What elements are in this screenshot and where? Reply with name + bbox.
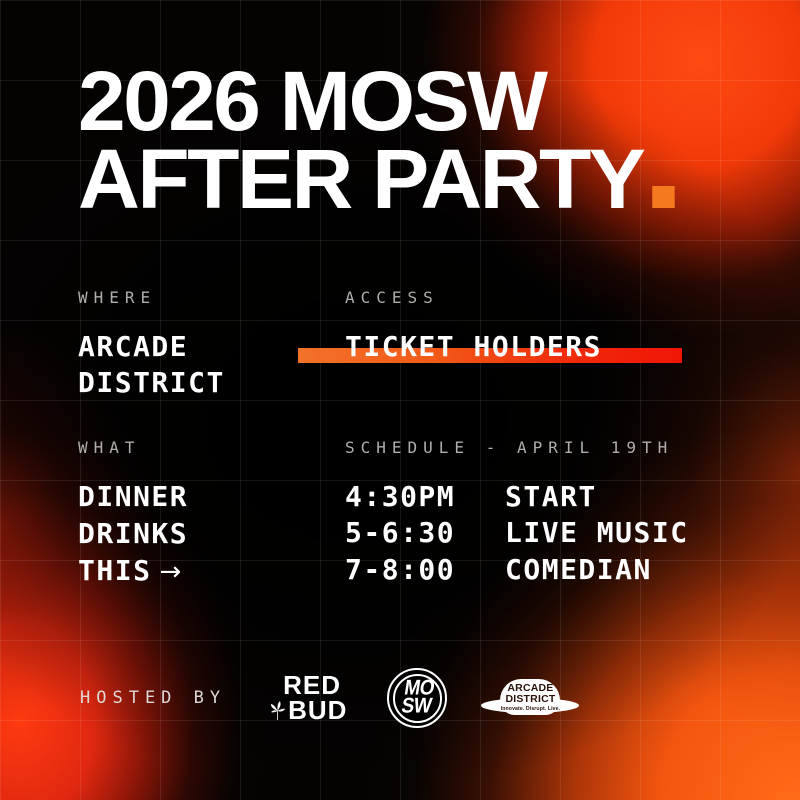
hosted-by-label: HOSTED BY bbox=[80, 688, 226, 708]
poster-canvas: 2026 MOSW AFTER PARTY WHERE ARCADE DISTR… bbox=[0, 0, 800, 800]
access-value-highlight: TICKET HOLDERS bbox=[323, 329, 602, 365]
red-bud-line-2: BUD bbox=[288, 698, 347, 723]
what-item-text: THIS bbox=[78, 554, 151, 587]
arrow-right-icon: → bbox=[159, 557, 182, 587]
mosw-wordmark: MO SW bbox=[400, 681, 435, 716]
schedule-time: 7-8:00 bbox=[345, 552, 505, 588]
schedule-label: SCHEDULE - APRIL 19TH bbox=[345, 438, 689, 457]
headline-line-2-wrap: AFTER PARTY bbox=[78, 140, 772, 218]
footer-hosts: HOSTED BY RED BUD bbox=[80, 668, 579, 728]
where-label: WHERE bbox=[78, 288, 225, 307]
poster-content: 2026 MOSW AFTER PARTY WHERE ARCADE DISTR… bbox=[0, 0, 800, 800]
what-list: DINNER DRINKS THIS→ bbox=[78, 479, 196, 589]
headline-line-1: 2026 MOSW bbox=[78, 62, 772, 140]
where-value-line-2: DISTRICT bbox=[78, 365, 225, 401]
headline-line-2: AFTER PARTY bbox=[78, 132, 643, 226]
where-value-line-1: ARCADE bbox=[78, 329, 225, 365]
where-value: ARCADE DISTRICT bbox=[78, 329, 225, 402]
headline-period-square bbox=[653, 186, 675, 208]
arcade-district-wordmark: ARCADE DISTRICT Innovate. Disrupt. Live. bbox=[501, 683, 560, 712]
where-block: WHERE ARCADE DISTRICT bbox=[78, 288, 225, 402]
logo-arcade-district: ARCADE DISTRICT Innovate. Disrupt. Live. bbox=[481, 675, 579, 721]
list-item: DRINKS bbox=[78, 516, 196, 553]
logo-red-bud: RED BUD bbox=[270, 673, 347, 722]
access-value: TICKET HOLDERS bbox=[345, 330, 602, 363]
leaf-icon bbox=[270, 701, 285, 720]
arcade-district-tagline: Innovate. Disrupt. Live. bbox=[501, 706, 560, 712]
table-row: 5-6:30 LIVE MUSIC bbox=[345, 515, 689, 551]
schedule-time: 5-6:30 bbox=[345, 515, 505, 551]
page-title: 2026 MOSW AFTER PARTY bbox=[78, 62, 758, 218]
access-value-wrap: TICKET HOLDERS bbox=[345, 329, 602, 365]
schedule-activity: LIVE MUSIC bbox=[505, 515, 689, 551]
what-item-text: DRINKS bbox=[78, 517, 188, 550]
what-item-text: DINNER bbox=[78, 480, 188, 513]
arcade-district-line-2: DISTRICT bbox=[501, 694, 560, 705]
schedule-block: SCHEDULE - APRIL 19TH 4:30PM START 5-6:3… bbox=[345, 438, 689, 588]
table-row: 4:30PM START bbox=[345, 479, 689, 515]
list-item: THIS→ bbox=[78, 553, 196, 590]
access-block: ACCESS TICKET HOLDERS bbox=[345, 288, 602, 365]
access-label: ACCESS bbox=[345, 288, 602, 307]
logo-mosw: MO SW bbox=[387, 668, 447, 728]
what-label: WHAT bbox=[78, 438, 196, 457]
schedule-time: 4:30PM bbox=[345, 479, 505, 515]
schedule-list: 4:30PM START 5-6:30 LIVE MUSIC 7-8:00 CO… bbox=[345, 479, 689, 588]
list-item: DINNER bbox=[78, 479, 196, 516]
schedule-activity: COMEDIAN bbox=[505, 552, 652, 588]
table-row: 7-8:00 COMEDIAN bbox=[345, 552, 689, 588]
mosw-line-2: SW bbox=[400, 698, 432, 715]
what-block: WHAT DINNER DRINKS THIS→ bbox=[78, 438, 196, 589]
red-bud-line-2-wrap: BUD bbox=[270, 698, 347, 723]
schedule-activity: START bbox=[505, 479, 597, 515]
